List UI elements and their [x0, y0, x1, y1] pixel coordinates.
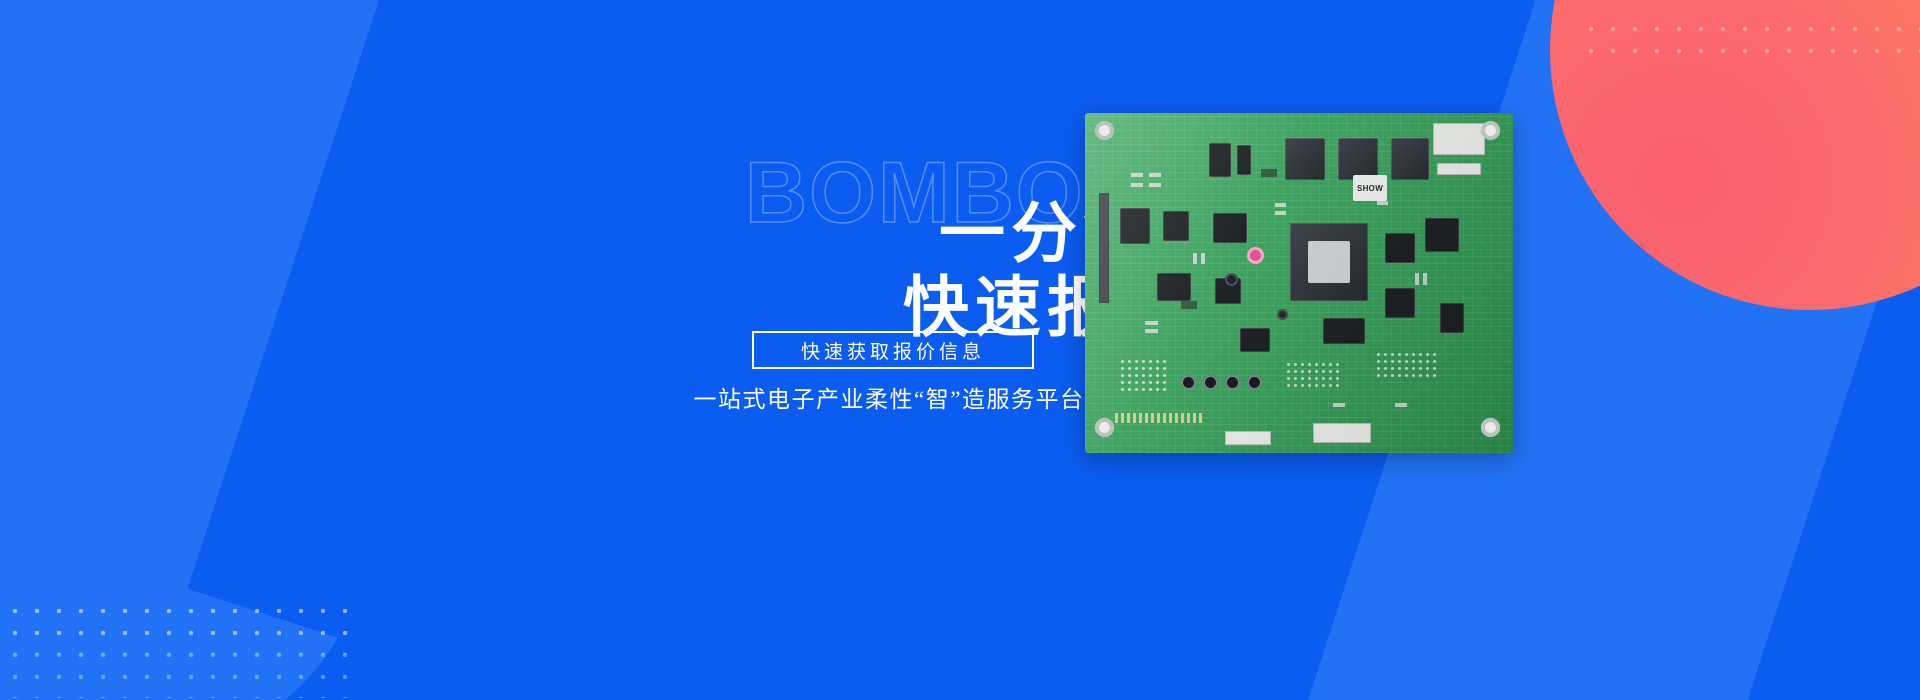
mounting-hole: [1481, 418, 1500, 437]
tagline: 一站式电子产业柔性“智”造服务平台: [684, 380, 1094, 414]
mounting-hole: [1481, 121, 1500, 140]
mounting-hole: [1095, 121, 1114, 140]
pcb-board-image: SHOW: [1085, 113, 1513, 453]
hero-banner: BOMBOM 一分钟 快速报价 快速获取报价信息 一站式电子产业柔性“智”造服务…: [0, 0, 1920, 700]
get-quote-button[interactable]: 快速获取报价信息: [752, 331, 1034, 369]
get-quote-button-label: 快速获取报价信息: [801, 337, 985, 364]
mounting-hole: [1095, 418, 1114, 437]
dot-grid-top-right: [1580, 18, 1920, 64]
pcb-gloss-overlay: [1085, 113, 1513, 453]
pcb-substrate: SHOW: [1085, 113, 1513, 453]
